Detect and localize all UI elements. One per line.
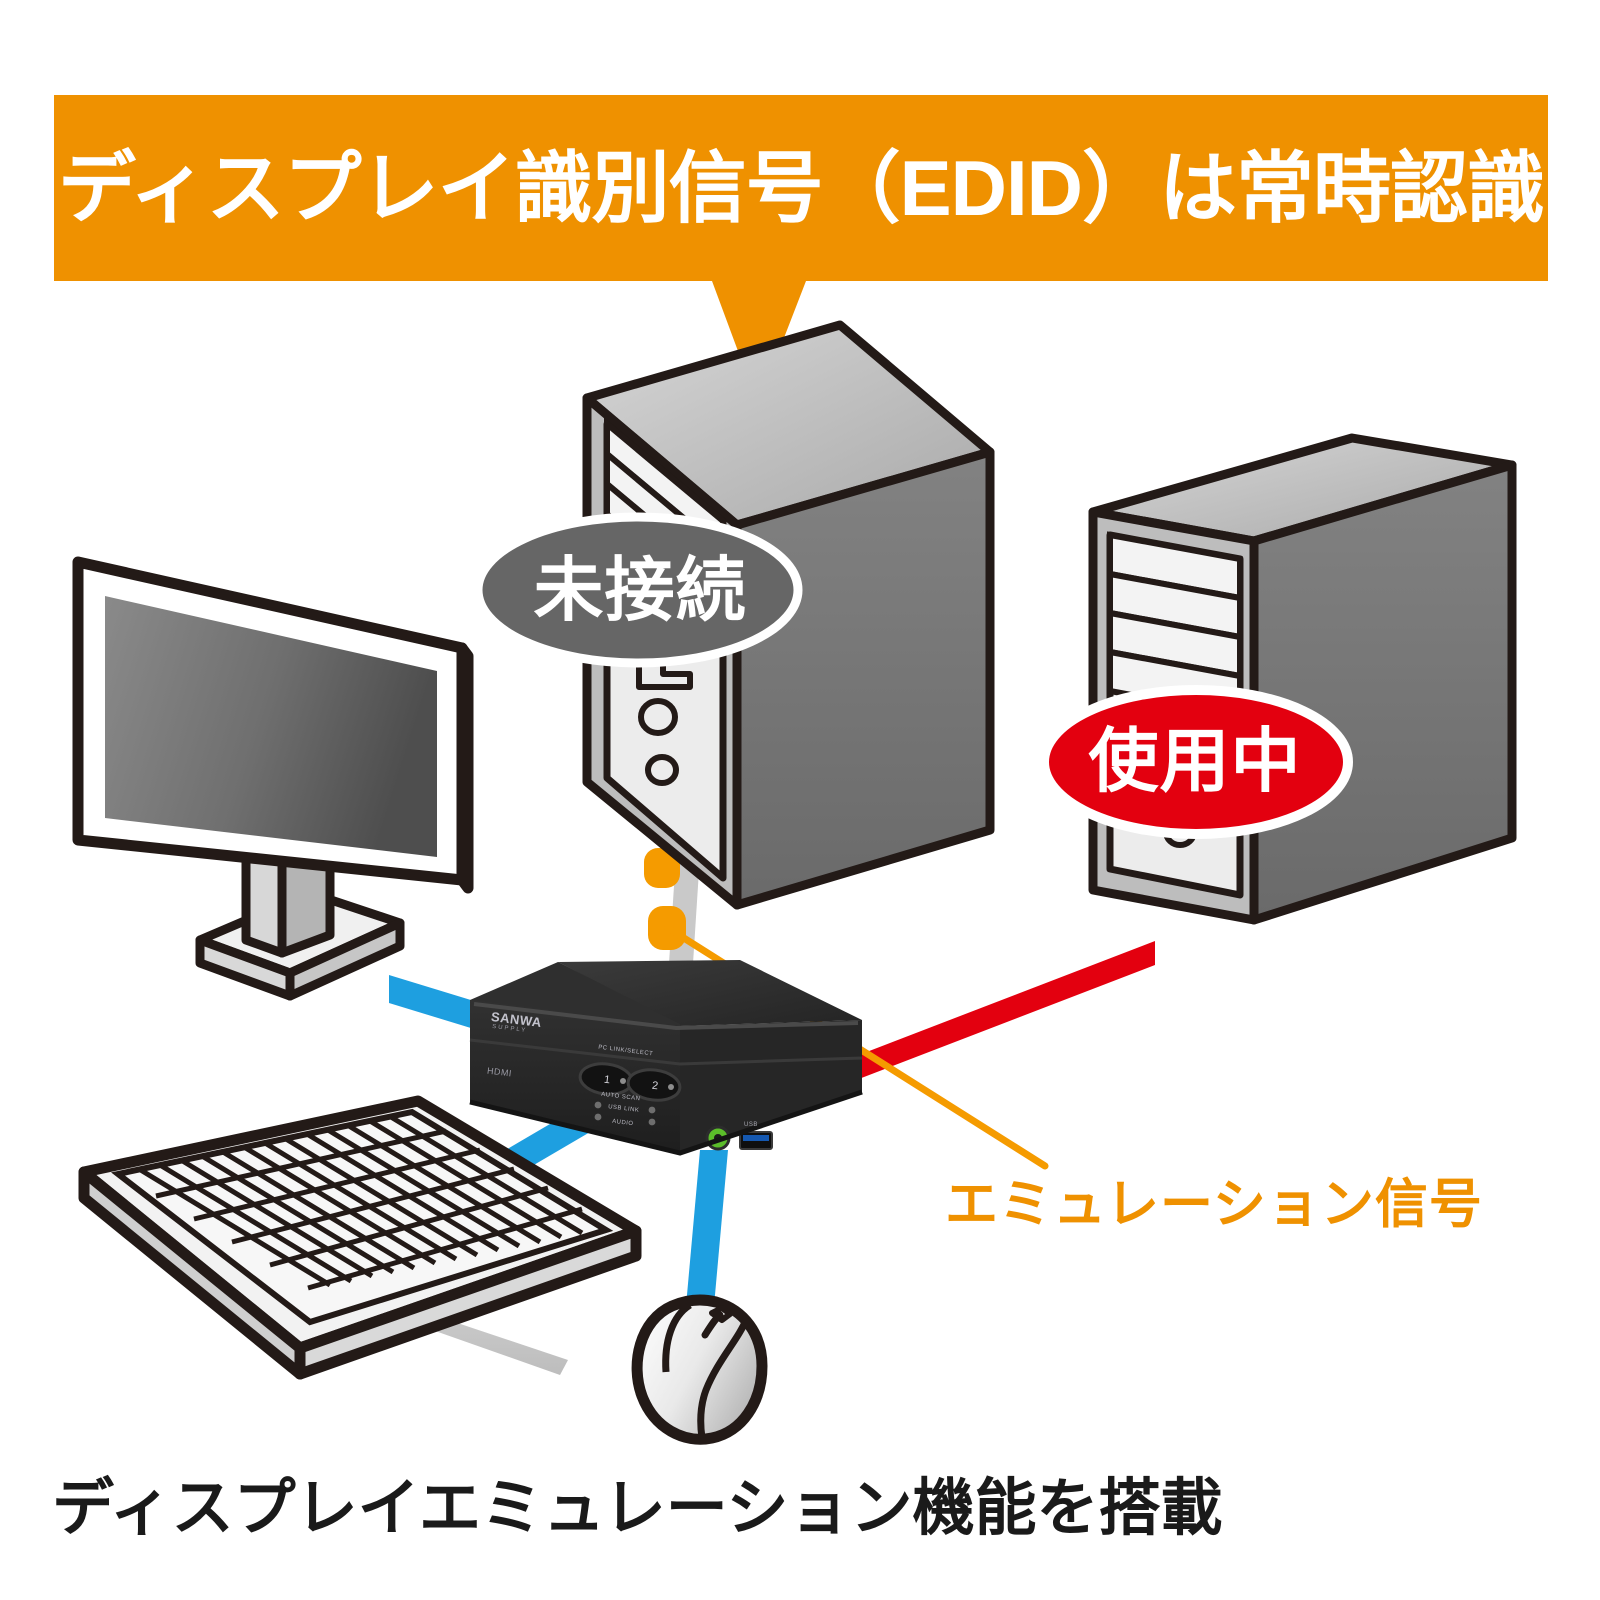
status-badge-unconnected: [478, 517, 798, 663]
emulation-signal-label: エミュレーション信号: [945, 1178, 1483, 1231]
mouse: [637, 1300, 762, 1439]
page-caption: ディスプレイエミュレーション機能を搭載: [52, 1478, 1223, 1540]
illustration-canvas: ディスプレイ識別信号（EDID）は常時認識 未接続 使用中 エミュレーション信号…: [0, 0, 1600, 1600]
kvm-switch[interactable]: [470, 960, 862, 1153]
pc-tower-right: [1093, 437, 1515, 920]
cable-mouse: [686, 1150, 728, 1306]
diagram-svg: [0, 0, 1600, 1600]
display-monitor: [78, 562, 468, 996]
status-badge-inuse: [1044, 690, 1348, 834]
